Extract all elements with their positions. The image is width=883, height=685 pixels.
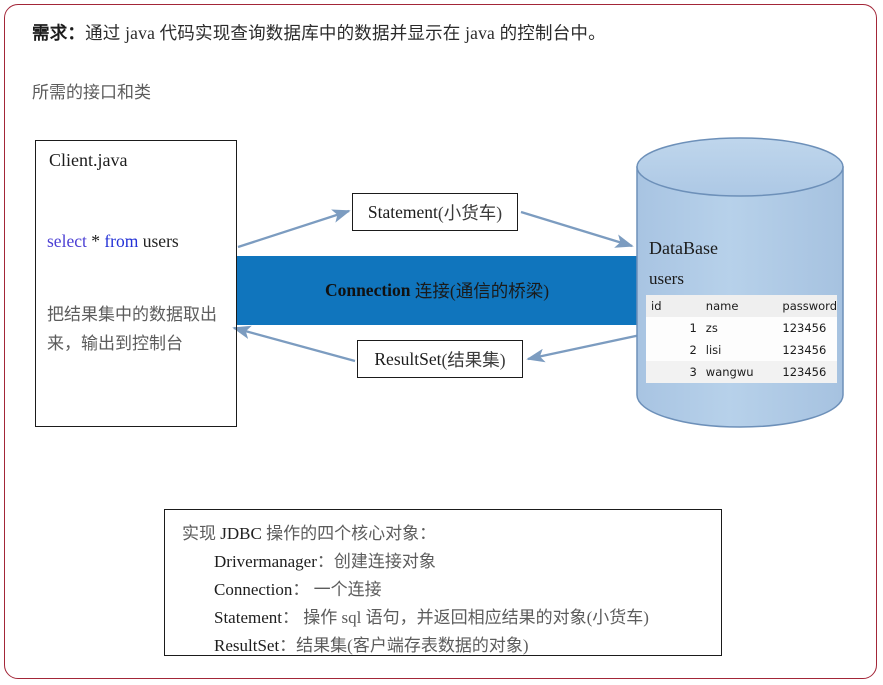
table-row: 2 lisi 123456 — [646, 339, 837, 361]
item-cn: 结果集(客户端存表数据的对象) — [296, 636, 528, 655]
sql-star: * — [91, 231, 100, 251]
requirement-line: 需求：通过 java 代码实现查询数据库中的数据并显示在 java 的控制台中。 — [32, 20, 606, 45]
requirement-text: 通过 java 代码实现查询数据库中的数据并显示在 java 的控制台中。 — [85, 23, 606, 43]
client-java-title: Client.java — [49, 150, 127, 171]
database-table-name: users — [649, 269, 684, 289]
item-latin: Drivermanager — [214, 552, 317, 571]
heading-latin-jdbc: JDBC — [220, 524, 262, 543]
item-latin: Connection — [214, 580, 292, 599]
heading-cn-part2: 操作的四个核心对象： — [262, 524, 436, 543]
resultset-box: ResultSet(结果集) — [357, 340, 523, 378]
item-sep: ： — [317, 552, 334, 571]
connection-cn-label: 连接(通信的桥梁) — [415, 278, 549, 303]
cell-id: 3 — [646, 361, 702, 383]
sql-table-name: users — [143, 231, 179, 251]
users-table-header-row: id name password — [646, 295, 837, 317]
resultset-cn-label: (结果集) — [441, 347, 505, 372]
jdbc-summary-heading: 实现 JDBC 操作的四个核心对象： — [182, 519, 436, 544]
column-header-name: name — [702, 295, 777, 317]
item-latin: Statement — [214, 608, 282, 627]
subtitle-line: 所需的接口和类 — [32, 78, 151, 103]
item-latin: ResultSet — [214, 636, 279, 655]
item-cn: 创建连接对象 — [334, 552, 436, 571]
list-item: Connection： 一个连接 — [214, 576, 649, 604]
connection-latin-label: Connection — [325, 280, 411, 301]
cell-id: 1 — [646, 317, 702, 339]
diagram-page: 需求：通过 java 代码实现查询数据库中的数据并显示在 java 的控制台中。… — [0, 0, 883, 685]
statement-box: Statement(小货车) — [352, 193, 518, 231]
item-cn: 一个连接 — [309, 580, 381, 599]
database-title: DataBase — [649, 238, 718, 259]
item-sep: ： — [282, 608, 299, 627]
requirement-label: 需求： — [32, 23, 85, 43]
cell-name: lisi — [702, 339, 777, 361]
resultset-to-client-arrow — [234, 328, 355, 361]
cell-password: 123456 — [776, 339, 837, 361]
resultset-latin-label: ResultSet — [374, 349, 441, 370]
sql-keyword-select: select — [47, 231, 87, 251]
column-header-id: id — [646, 295, 702, 317]
sql-keyword-from: from — [104, 231, 138, 251]
database-cylinder: DataBase users id name password 1 zs 123… — [632, 134, 848, 432]
list-item: Statement： 操作 sql 语句，并返回相应结果的对象(小货车) — [214, 604, 649, 632]
jdbc-core-object-list: Drivermanager：创建连接对象 Connection： 一个连接 St… — [214, 548, 649, 660]
list-item: ResultSet：结果集(客户端存表数据的对象) — [214, 632, 649, 660]
statement-latin-label: Statement — [368, 202, 438, 223]
cell-name: zs — [702, 317, 777, 339]
heading-cn-part1: 实现 — [182, 524, 220, 543]
cell-name: wangwu — [702, 361, 777, 383]
client-note-text: 把结果集中的数据取出来，输出到控制台 — [47, 300, 227, 358]
connection-band-label: Connection 连接(通信的桥梁) — [236, 256, 638, 325]
table-row: 1 zs 123456 — [646, 317, 837, 339]
item-cn: 操作 sql 语句，并返回相应结果的对象(小货车) — [299, 608, 649, 627]
client-sql-statement: select * from users — [47, 231, 179, 252]
table-row: 3 wangwu 123456 — [646, 361, 837, 383]
database-text-layer: DataBase users id name password 1 zs 123… — [632, 134, 848, 432]
item-sep: ： — [292, 580, 309, 599]
statement-to-database-arrow — [521, 212, 632, 246]
column-header-password: password — [776, 295, 837, 317]
cell-id: 2 — [646, 339, 702, 361]
client-java-box — [35, 140, 237, 427]
cell-password: 123456 — [776, 317, 837, 339]
cell-password: 123456 — [776, 361, 837, 383]
client-to-statement-arrow — [238, 211, 349, 247]
users-table: id name password 1 zs 123456 2 lisi 1234… — [646, 295, 837, 383]
list-item: Drivermanager：创建连接对象 — [214, 548, 649, 576]
statement-cn-label: (小货车) — [438, 200, 502, 225]
item-sep: ： — [279, 636, 296, 655]
